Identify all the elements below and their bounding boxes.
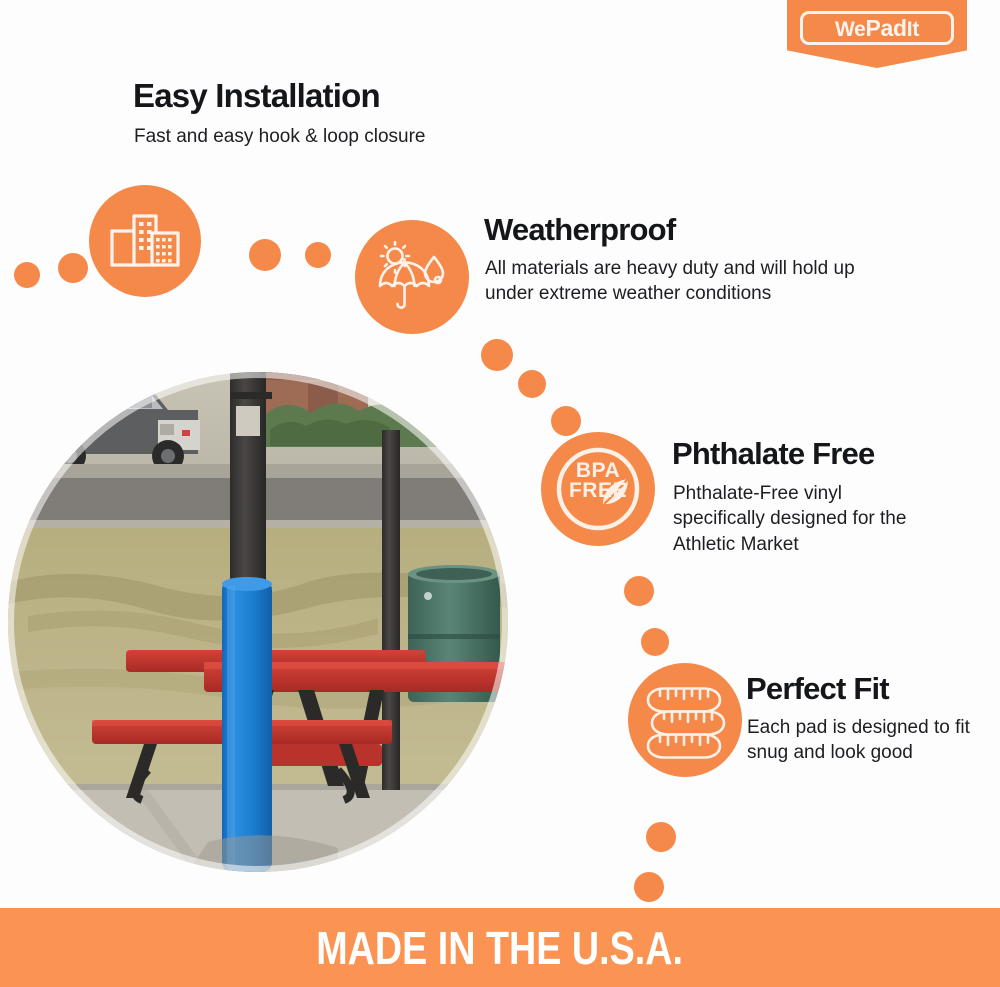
made-in-usa-banner: MADE IN THE U.S.A.	[0, 908, 1000, 987]
logo-outline-box: WePadIt	[800, 11, 954, 45]
feature-title-easy-installation: Easy Installation	[133, 79, 380, 114]
logo-text-it: It	[907, 18, 919, 41]
product-photo	[8, 372, 508, 872]
trail-dot	[518, 370, 546, 398]
trail-dot	[641, 628, 669, 656]
feature-subtitle-perfect-fit: Each pad is designed to fit snug and loo…	[747, 715, 975, 766]
feature-subtitle-easy-installation: Fast and easy hook & loop closure	[134, 124, 554, 149]
product-photo-image	[8, 372, 508, 872]
feature-icon-weatherproof	[355, 220, 469, 334]
trail-dot	[249, 239, 281, 271]
trail-dot	[634, 872, 664, 902]
building-icon	[108, 211, 182, 271]
infographic-canvas: WePadIt Easy Installation Fast and easy …	[0, 0, 1000, 987]
measuring-tape-icon	[642, 680, 728, 760]
trail-dot	[58, 253, 88, 283]
trail-dot	[646, 822, 676, 852]
feature-title-phthalate-free: Phthalate Free	[672, 438, 874, 471]
logo-wordmark: WePadIt	[835, 17, 919, 40]
feature-icon-phthalate-free: BPA FREE	[541, 432, 655, 546]
feature-subtitle-weatherproof: All materials are heavy duty and will ho…	[485, 256, 905, 307]
trail-dot	[624, 576, 654, 606]
trail-dot	[14, 262, 40, 288]
feature-subtitle-phthalate-free: Phthalate-Free vinyl specifically design…	[673, 481, 935, 557]
trail-dot	[481, 339, 513, 371]
umbrella-sun-raindrop-icon	[372, 241, 452, 313]
feature-icon-perfect-fit	[628, 663, 742, 777]
trail-dot	[305, 242, 331, 268]
bpa-free-leaf-icon	[541, 432, 655, 546]
made-in-usa-text: MADE IN THE U.S.A.	[317, 925, 684, 971]
feature-title-perfect-fit: Perfect Fit	[746, 673, 889, 706]
feature-title-weatherproof: Weatherproof	[484, 214, 675, 247]
logo-text-pad: Pad	[866, 15, 907, 41]
feature-icon-easy-installation	[89, 185, 201, 297]
brand-logo-banner: WePadIt	[787, 0, 967, 68]
logo-text-we: We	[835, 18, 866, 41]
